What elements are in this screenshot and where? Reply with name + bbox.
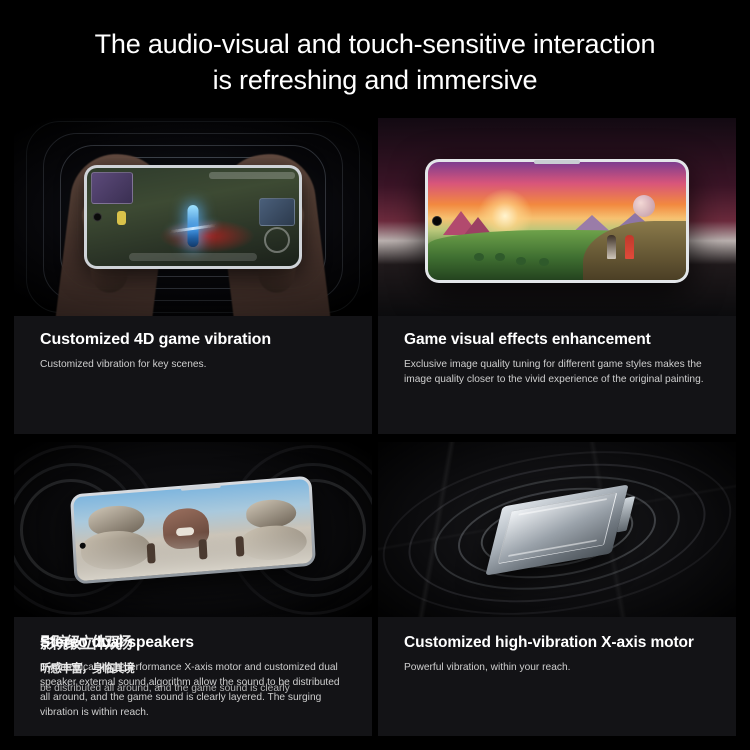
game-minimap	[259, 198, 295, 226]
headline-line-1: The audio-visual and touch-sensitive int…	[95, 29, 656, 59]
game-fighter	[146, 543, 155, 564]
caption-4d-vibration: Customized 4D game vibration Customized …	[14, 316, 372, 372]
feature-image-4d-vibration	[14, 118, 372, 316]
front-camera-icon	[432, 216, 442, 226]
tree-icon	[516, 257, 526, 265]
caption-x-axis-motor: Customized high-vibration X-axis motor P…	[378, 617, 736, 675]
feature-image-stereo-speakers	[14, 442, 372, 617]
feature-grid: Customized 4D game vibration Customized …	[14, 118, 736, 736]
front-camera-icon	[93, 213, 102, 222]
phone-screen-battle-art	[73, 478, 313, 580]
game-character-knight	[607, 235, 616, 259]
panel-body: Exclusive image quality tuning for diffe…	[404, 357, 710, 387]
phone-landscape	[425, 159, 689, 283]
feature-panel-4d-vibration[interactable]: Customized 4D game vibration Customized …	[14, 118, 372, 434]
game-hud-panel	[91, 172, 133, 204]
phone-tilted	[70, 475, 316, 584]
feature-image-visual-effects	[378, 118, 736, 316]
panel-title: Stereo dual speakers	[40, 633, 346, 653]
headline-line-2: is refreshing and immersive	[0, 62, 750, 98]
product-feature-page: The audio-visual and touch-sensitive int…	[0, 0, 750, 750]
front-camera-icon	[80, 542, 86, 548]
phone-screen-landscape-art	[428, 162, 686, 280]
game-hud-bottombar	[129, 253, 256, 261]
game-npc	[117, 211, 126, 225]
panel-title: Customized 4D game vibration	[40, 330, 346, 350]
phone-landscape	[84, 165, 302, 269]
caption-visual-effects: Game visual effects enhancement Exclusiv…	[378, 316, 736, 387]
panel-body: Symmetrical, high-performance X-axis mot…	[40, 660, 346, 720]
feature-panel-visual-effects[interactable]: Game visual effects enhancement Exclusiv…	[378, 118, 736, 434]
game-action-button	[264, 227, 290, 253]
game-fighter	[198, 539, 207, 560]
caption-stereo-speakers: Stereo dual speakers Symmetrical, high-p…	[14, 617, 372, 720]
game-character-red-dress	[625, 235, 634, 259]
feature-image-x-axis-motor	[378, 442, 736, 617]
panel-body: Powerful vibration, within your reach.	[404, 660, 710, 675]
earpiece-speaker-icon	[534, 160, 580, 164]
panel-body: Customized vibration for key scenes.	[40, 357, 346, 372]
tree-icon	[539, 258, 549, 266]
game-fighter	[236, 536, 245, 557]
panel-title: Customized high-vibration X-axis motor	[404, 633, 710, 653]
panel-title: Game visual effects enhancement	[404, 330, 710, 350]
feature-panel-x-axis-motor[interactable]: Customized high-vibration X-axis motor P…	[378, 442, 736, 736]
feature-panel-stereo-speakers[interactable]: Stereo dual speakers Symmetrical, high-p…	[14, 442, 372, 736]
game-hud-topbar	[209, 172, 295, 179]
phone-screen-game	[87, 168, 299, 266]
motor-rail	[508, 539, 597, 556]
page-headline: The audio-visual and touch-sensitive int…	[0, 26, 750, 98]
